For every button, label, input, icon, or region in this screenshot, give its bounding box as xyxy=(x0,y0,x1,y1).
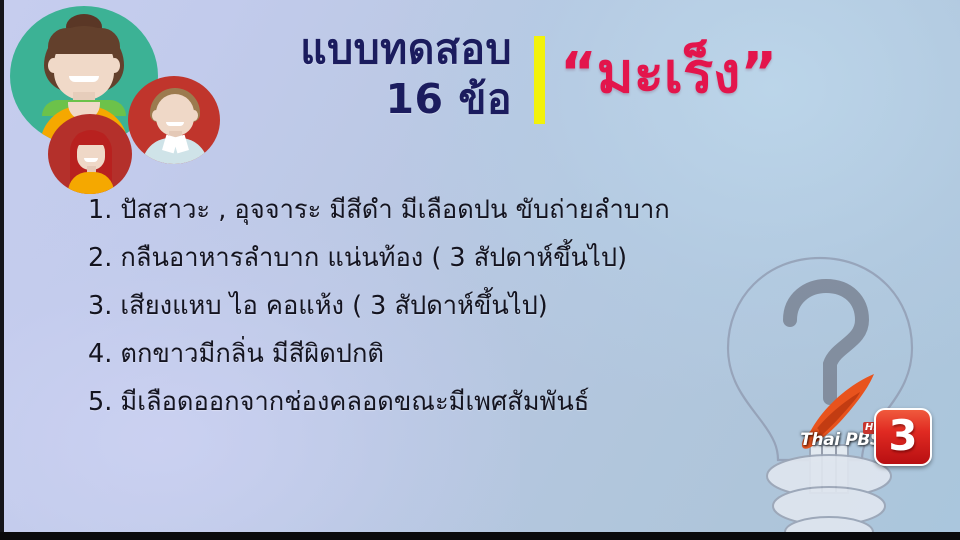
left-edge-bar xyxy=(0,0,4,540)
woman-fringe xyxy=(48,28,120,54)
man-face xyxy=(156,94,194,136)
thai-pbs-logo: Thai PBS HD 3 xyxy=(790,370,950,475)
yellow-divider-bar xyxy=(534,36,545,124)
girl-fringe xyxy=(74,132,108,145)
channel-number-badge: 3 xyxy=(874,408,932,466)
girl-smile xyxy=(84,158,98,162)
bottom-letterbox-bar xyxy=(0,532,960,540)
girl-avatar xyxy=(48,114,132,194)
woman-ear-right xyxy=(109,58,120,73)
keyword-title: “มะเร็ง” xyxy=(560,28,777,120)
people-avatars xyxy=(4,2,234,182)
list-item: 3. เสียงแหบ ไอ คอแห้ง ( 3 สัปดาห์ขึ้นไป) xyxy=(88,282,918,330)
title-line-1: แบบทดสอบ xyxy=(212,24,512,74)
man-smile xyxy=(166,122,184,126)
woman-ear-left xyxy=(48,58,59,73)
man-ear-right xyxy=(190,110,198,121)
list-item: 1. ปัสสาวะ , อุจจาระ มีสีดำ มีเลือดปน ขั… xyxy=(88,186,918,234)
man-ear-left xyxy=(152,110,160,121)
woman-smile xyxy=(69,76,99,82)
broadcast-slide: แบบทดสอบ 16 ข้อ “มะเร็ง” 1. ปัสสาวะ , อุ… xyxy=(0,0,960,540)
page-title: แบบทดสอบ 16 ข้อ xyxy=(212,24,512,124)
channel-number: 3 xyxy=(876,410,930,462)
slide-header: แบบทดสอบ 16 ข้อ “มะเร็ง” xyxy=(212,24,942,144)
man-avatar xyxy=(128,76,220,164)
list-item: 2. กลืนอาหารลำบาก แน่นท้อง ( 3 สัปดาห์ขึ… xyxy=(88,234,918,282)
title-line-2: 16 ข้อ xyxy=(212,74,512,124)
